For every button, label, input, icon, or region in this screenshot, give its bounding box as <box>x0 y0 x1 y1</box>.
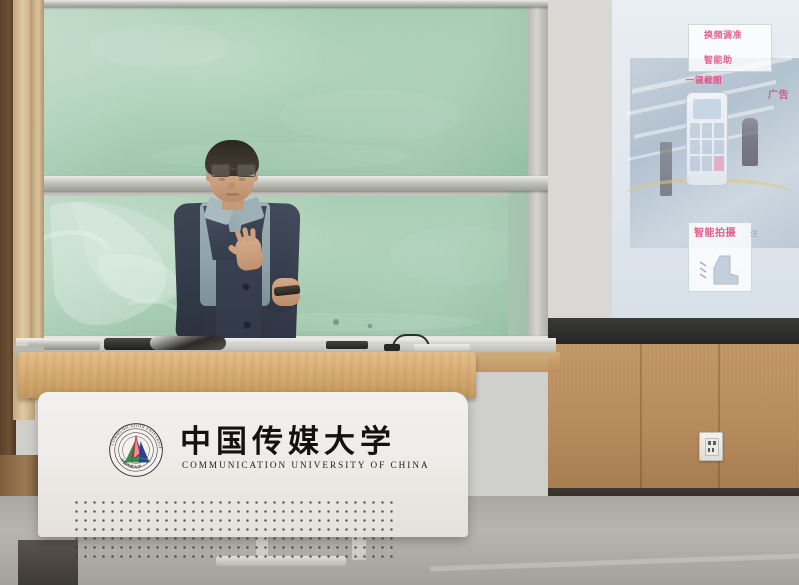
slide-phone-app-grid <box>690 123 724 171</box>
desk-item-remote <box>326 341 368 349</box>
wood-panel-seam <box>718 344 720 496</box>
chalkboard-rail-middle <box>34 176 548 191</box>
slide-phone-mockup <box>686 92 728 186</box>
slide-callout-text-1: 换频调准 <box>704 28 742 41</box>
outlet-face <box>705 438 719 456</box>
chalkboard-rail-top <box>34 0 548 7</box>
desk-item-bag <box>150 336 226 350</box>
upper-board-marks <box>40 6 542 176</box>
university-name-english: COMMUNICATION UNIVERSITY OF CHINA <box>182 460 430 470</box>
jacket-button <box>243 284 249 290</box>
wood-panel-seam <box>640 344 642 496</box>
slide-side-text: 注 <box>750 228 758 239</box>
desk-item-white-box <box>414 344 470 351</box>
university-name-chinese: 中国传媒大学 <box>180 416 396 461</box>
slide-callout-text-4: 智能拍摄 <box>694 224 748 239</box>
chalkboard-panel-upper <box>40 6 542 176</box>
wood-panel-wall <box>548 344 799 496</box>
screen-bottom-bar <box>548 318 799 344</box>
slide-person-figure <box>742 118 758 166</box>
slide-boot-diagram <box>698 254 744 288</box>
desk-side-extension <box>470 352 560 372</box>
projection-screen: 换频调准 智能助 一键截图 广告 智能拍摄 注 <box>612 0 799 318</box>
eyeglasses <box>210 164 255 176</box>
power-outlet[interactable] <box>699 432 723 461</box>
slide-callout-text-5: 广告 <box>768 86 789 101</box>
university-branding: COMMUNICATION UNIVERSITY OF CHINA 中国传媒大学… <box>108 418 408 484</box>
desk-cable-end <box>384 344 400 351</box>
lower-left-opening <box>18 540 78 585</box>
classroom-photo: 换频调准 智能助 一键截图 广告 智能拍摄 注 <box>0 0 799 585</box>
slide-callout-text-2: 智能助 <box>704 53 733 66</box>
university-seal-emblem: COMMUNICATION UNIVERSITY OF CHINA 中国传媒大学 <box>108 422 164 478</box>
slide-callout-text-3: 一键截图 <box>686 74 722 86</box>
podium-perforated-panel <box>72 498 394 564</box>
jacket-button <box>244 322 250 328</box>
